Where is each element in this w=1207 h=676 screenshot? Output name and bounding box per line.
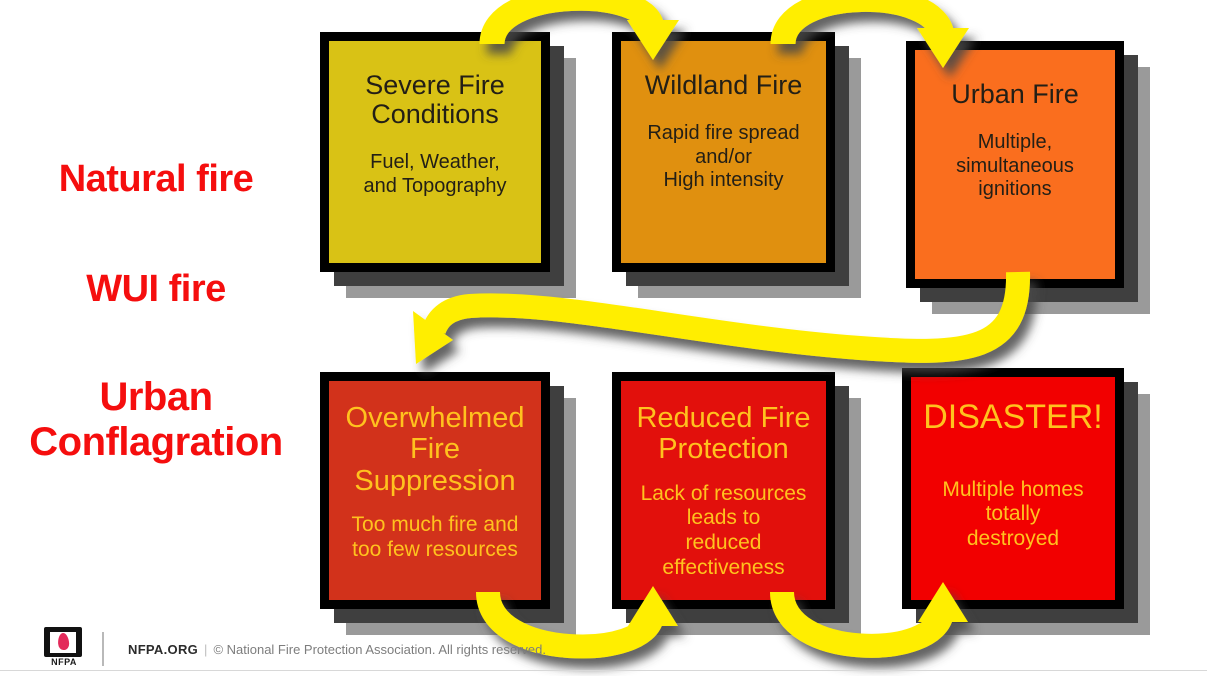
footer-credit: NFPA.ORG|© National Fire Protection Asso… — [128, 642, 546, 657]
node-frame: Urban Fire Multiple, simultaneous igniti… — [906, 41, 1124, 288]
node-body: Fuel, Weather, and Topography — [363, 151, 506, 198]
node-overwhelmed-fire-suppression[interactable]: Overwhelmed Fire Suppression Too much fi… — [320, 372, 550, 609]
node-frame: Severe Fire Conditions Fuel, Weather, an… — [320, 32, 550, 272]
stage-label-natural-fire: Natural fire — [6, 158, 306, 201]
node-severe-fire-conditions[interactable]: Severe Fire Conditions Fuel, Weather, an… — [320, 32, 550, 272]
footer-rule — [0, 670, 1207, 671]
node-body: Too much fire and too few resources — [352, 513, 519, 563]
node-face: Severe Fire Conditions Fuel, Weather, an… — [329, 41, 541, 263]
node-frame: Reduced Fire Protection Lack of resource… — [612, 372, 835, 609]
footer: NFPA NFPA.ORG|© National Fire Protection… — [0, 622, 1207, 676]
node-face: Reduced Fire Protection Lack of resource… — [621, 381, 826, 600]
footer-copyright: © National Fire Protection Association. … — [213, 642, 546, 657]
footer-site-link[interactable]: NFPA.ORG — [128, 642, 198, 657]
node-body: Rapid fire spread and/or High intensity — [647, 122, 799, 193]
stage-label-wui-fire: WUI fire — [6, 268, 306, 311]
stage-label-urban-conflagration: Urban Conflagration — [0, 375, 312, 465]
node-title: Wildland Fire — [645, 71, 803, 100]
slide-canvas: Natural fire WUI fire Urban Conflagratio… — [0, 0, 1207, 676]
node-frame: Overwhelmed Fire Suppression Too much fi… — [320, 372, 550, 609]
footer-separator: | — [204, 642, 207, 657]
node-body: Lack of resources leads to reduced effec… — [641, 482, 807, 581]
node-body: Multiple homes totally destroyed — [942, 478, 1083, 552]
node-face: Wildland Fire Rapid fire spread and/or H… — [621, 41, 826, 263]
node-title: Urban Fire — [951, 80, 1079, 109]
logo-wordmark: NFPA — [42, 657, 86, 667]
node-title: Severe Fire Conditions — [365, 71, 505, 129]
node-face: Overwhelmed Fire Suppression Too much fi… — [329, 381, 541, 600]
node-frame: DISASTER! Multiple homes totally destroy… — [902, 368, 1124, 609]
node-title: DISASTER! — [923, 399, 1102, 436]
node-wildland-fire[interactable]: Wildland Fire Rapid fire spread and/or H… — [612, 32, 835, 272]
footer-divider — [102, 632, 104, 666]
nfpa-logo-icon: NFPA — [42, 627, 86, 671]
node-frame: Wildland Fire Rapid fire spread and/or H… — [612, 32, 835, 272]
node-reduced-fire-protection[interactable]: Reduced Fire Protection Lack of resource… — [612, 372, 835, 609]
node-urban-fire[interactable]: Urban Fire Multiple, simultaneous igniti… — [906, 41, 1124, 288]
node-title: Reduced Fire Protection — [636, 403, 810, 466]
node-title: Overwhelmed Fire Suppression — [346, 403, 525, 497]
node-disaster[interactable]: DISASTER! Multiple homes totally destroy… — [902, 368, 1124, 609]
node-face: Urban Fire Multiple, simultaneous igniti… — [915, 50, 1115, 279]
node-body: Multiple, simultaneous ignitions — [956, 131, 1074, 202]
node-face: DISASTER! Multiple homes totally destroy… — [911, 377, 1115, 600]
